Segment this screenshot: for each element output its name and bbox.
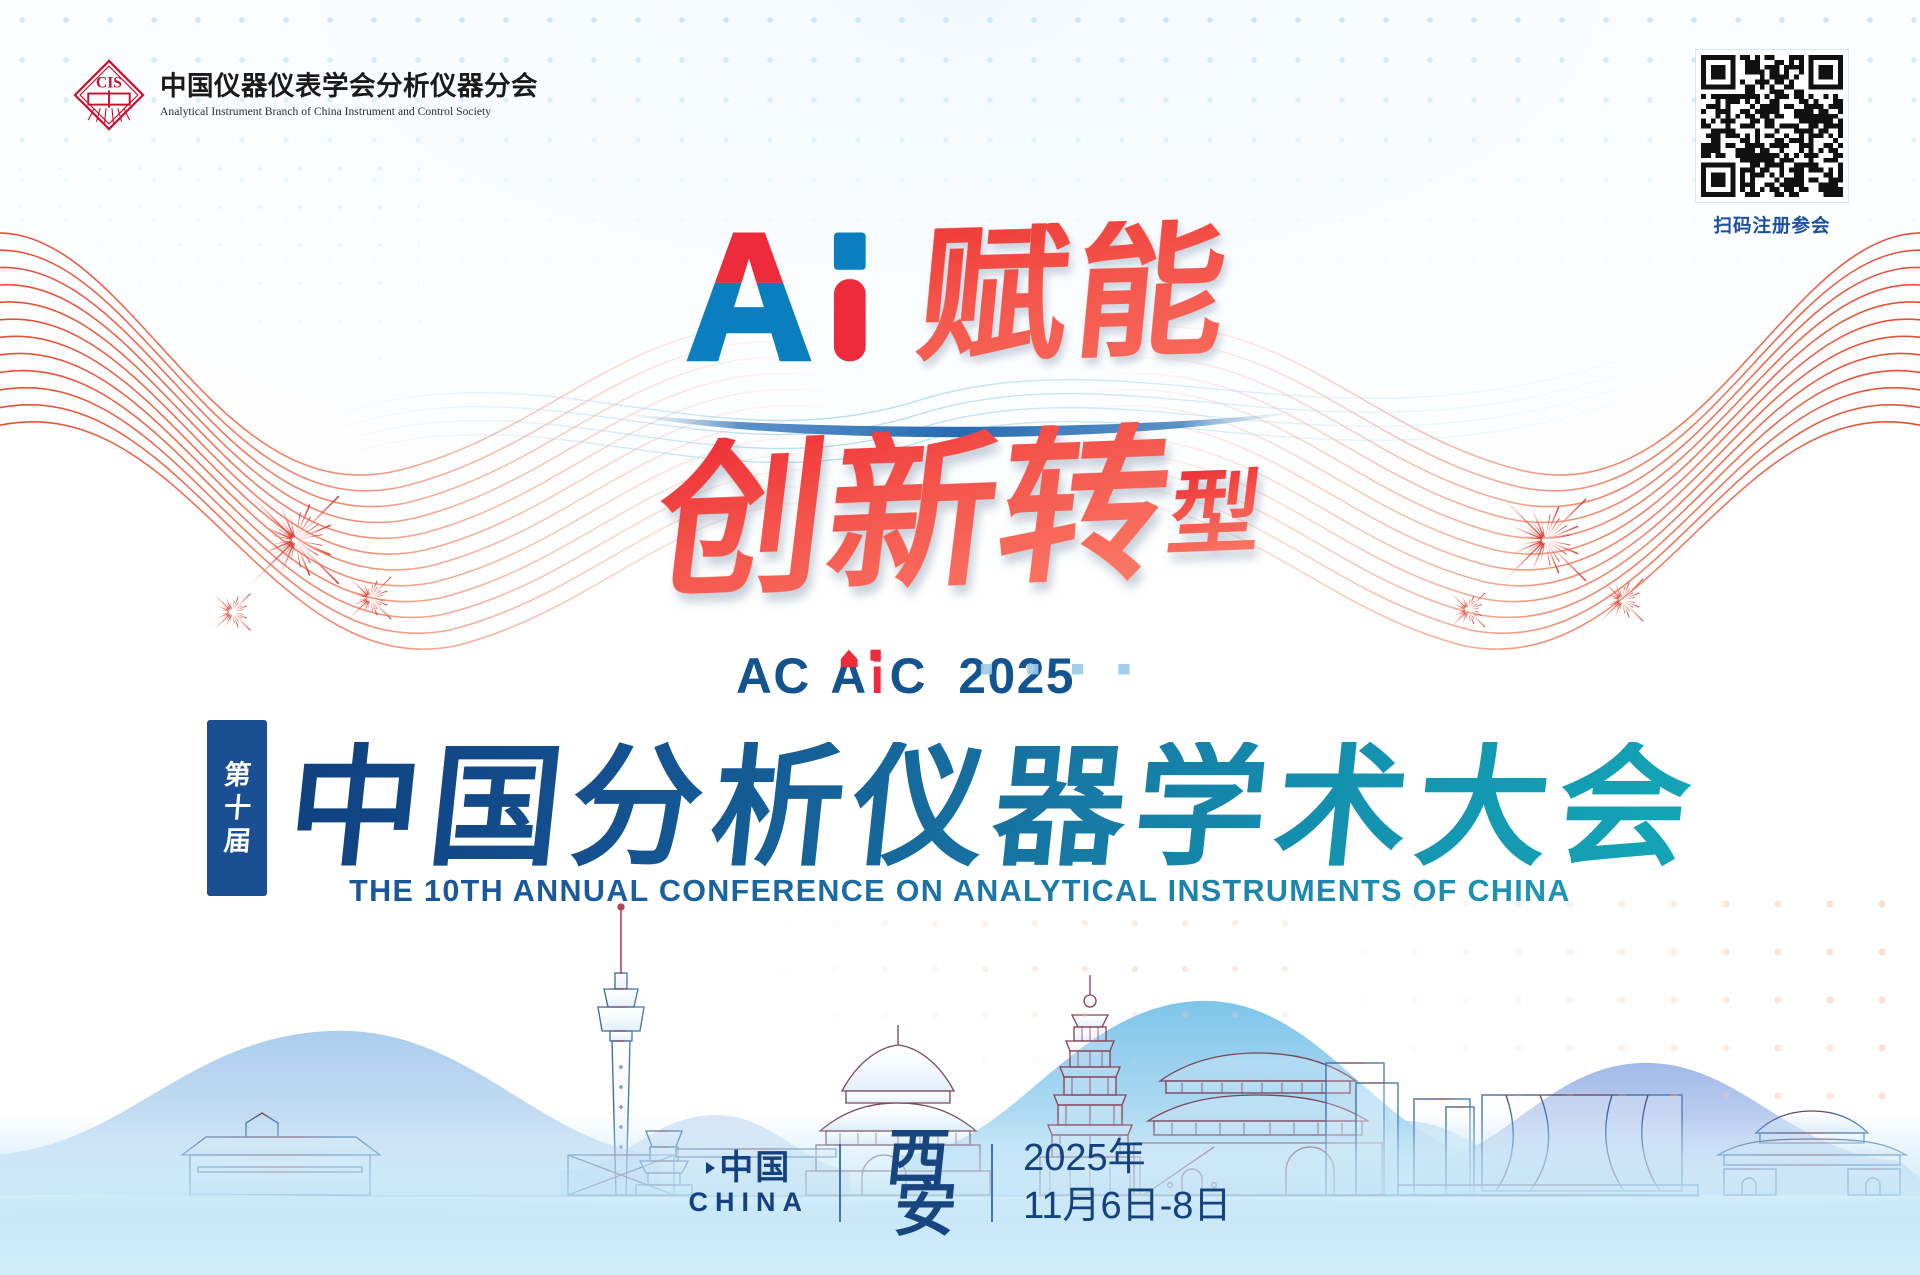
poster-canvas: CIS 中国仪器仪表学会分析仪器分会 Analytical Instrument…	[0, 0, 1920, 1275]
headline-line-2: 创新转 型	[0, 430, 1920, 598]
event-dates: 11月6日-8日	[1023, 1183, 1231, 1231]
country-block: 中国 CHINA	[689, 1149, 810, 1217]
society-logo-block: CIS 中国仪器仪表学会分析仪器分会 Analytical Instrument…	[72, 58, 538, 132]
event-location-date-bar: 中国 CHINA 西 安 2025年 11月6日-8日	[0, 1125, 1920, 1241]
event-year: 2025年	[1023, 1135, 1146, 1183]
halftone-dots-peach-center	[760, 900, 1320, 1100]
society-name-en: Analytical Instrument Branch of China In…	[160, 105, 538, 118]
qr-code-icon[interactable]	[1696, 50, 1848, 202]
qr-matrix	[1701, 55, 1843, 197]
cis-diamond-logo-icon: CIS	[72, 58, 146, 132]
footer-divider-1	[839, 1144, 841, 1222]
ai-wordmark-icon	[679, 225, 894, 365]
city-char-2: 安	[891, 1176, 962, 1241]
svg-text:AC: AC	[736, 648, 811, 704]
country-name-cn: 中国	[719, 1149, 791, 1187]
svg-text:C: C	[890, 648, 927, 704]
edition-char-1: 第	[222, 762, 251, 789]
registration-qr-block[interactable]: 扫码注册参会	[1696, 50, 1848, 238]
headline-fu-neng: 赋能	[912, 218, 1249, 369]
event-date-block: 2025年 11月6日-8日	[1023, 1135, 1231, 1230]
acaic-2025-icon: AC A i C 2025	[736, 648, 1184, 704]
society-name-cn: 中国仪器仪表学会分析仪器分会	[160, 72, 538, 101]
acronym-wordmark: AC A i C 2025	[0, 648, 1920, 704]
city-name-cn: 西 安	[865, 1125, 967, 1241]
headline-xing: 型	[1163, 466, 1267, 561]
footer-divider-2	[991, 1144, 993, 1222]
country-name-cn-row: 中国	[706, 1149, 791, 1187]
edition-char-3: 届	[222, 828, 251, 855]
svg-text:2025: 2025	[958, 648, 1075, 704]
triangle-bullet-icon	[706, 1162, 715, 1174]
headline-line-1: 赋能	[0, 222, 1920, 365]
country-name-en: CHINA	[689, 1187, 810, 1217]
society-name-block: 中国仪器仪表学会分析仪器分会 Analytical Instrument Bra…	[160, 72, 538, 117]
svg-text:CIS: CIS	[96, 75, 122, 92]
edition-char-2: 十	[222, 795, 251, 822]
headline-chuang-xin-zhuan: 创新转	[648, 420, 1181, 607]
